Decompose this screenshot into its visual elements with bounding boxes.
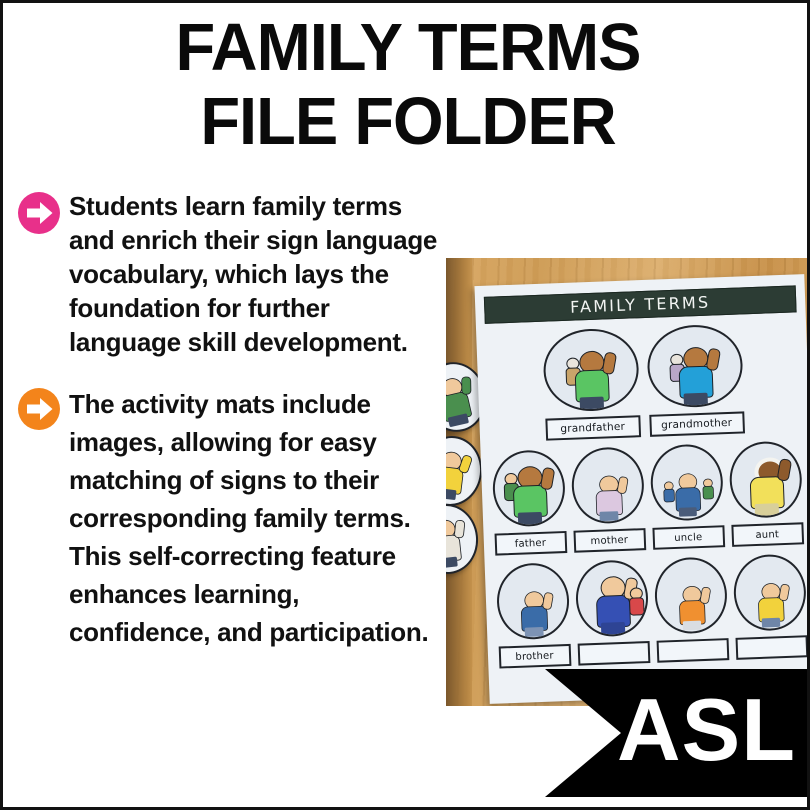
title-line-1: FAMILY TERMS <box>15 11 801 85</box>
page-title: FAMILY TERMS FILE FOLDER <box>3 11 810 159</box>
term-label: grandfather <box>560 421 625 435</box>
child-figure <box>584 571 640 635</box>
picture-oval <box>574 559 649 638</box>
asl-banner-label: ASL <box>617 686 796 774</box>
mini-figure <box>627 587 643 616</box>
worksheet-cell: aunt <box>728 440 804 547</box>
picture-oval <box>495 562 570 641</box>
term-label-box: mother <box>573 528 646 553</box>
worksheet-cell: grandfather <box>542 327 641 440</box>
picture-oval <box>728 440 803 519</box>
child-figure <box>737 453 793 517</box>
term-label-box: grandmother <box>649 411 745 436</box>
child-figure <box>500 461 556 525</box>
worksheet-row: father mother <box>490 440 806 555</box>
term-label: grandmother <box>661 417 733 432</box>
child-figure <box>446 446 474 502</box>
picture-oval <box>491 449 566 528</box>
term-label: mother <box>590 534 628 546</box>
mini-figure <box>701 478 713 499</box>
feature-bullet-list: Students learn family terms and enrich t… <box>17 189 447 677</box>
arrow-right-circle-icon <box>17 191 61 235</box>
worksheet-title: FAMILY TERMS <box>570 293 711 317</box>
list-item-label: The activity mats include images, allowi… <box>17 385 447 651</box>
child-figure <box>586 472 630 522</box>
child-figure <box>511 588 555 638</box>
family-group-figure <box>666 470 708 517</box>
term-label-box: uncle <box>652 525 725 550</box>
arrow-right-circle-icon <box>17 387 61 431</box>
term-label: father <box>515 537 547 549</box>
worksheet-cell: grandmother <box>646 323 745 436</box>
term-label-box: grandfather <box>545 415 641 440</box>
worksheet-cell: father <box>491 449 567 556</box>
worksheet-header: FAMILY TERMS <box>484 285 797 323</box>
list-item: The activity mats include images, allowi… <box>17 385 447 651</box>
worksheet-cell: mother <box>570 446 646 553</box>
list-item-label: Students learn family terms and enrich t… <box>17 189 447 359</box>
promo-graphic: FAMILY TERMS FILE FOLDER Students learn … <box>0 0 810 810</box>
child-figure <box>446 371 481 430</box>
child-figure <box>563 346 619 410</box>
picture-oval <box>570 446 645 525</box>
picture-oval <box>649 443 724 522</box>
worksheet-row: grandfather <box>485 321 801 442</box>
worksheet-cell: uncle <box>649 443 725 550</box>
term-label: uncle <box>674 532 702 544</box>
asl-banner: ASL <box>503 639 810 804</box>
child-figure <box>669 582 712 631</box>
picture-oval <box>646 323 744 408</box>
list-item: Students learn family terms and enrich t… <box>17 189 447 359</box>
term-label: aunt <box>755 529 779 541</box>
child-figure <box>446 515 470 570</box>
child-figure <box>667 342 723 406</box>
picture-oval <box>542 327 640 412</box>
child-figure <box>748 579 791 628</box>
picture-oval <box>732 553 807 632</box>
term-label-box: father <box>494 531 567 556</box>
term-label-box: aunt <box>731 522 804 547</box>
mini-figure <box>662 481 674 502</box>
title-line-2: FILE FOLDER <box>15 85 801 159</box>
picture-oval <box>653 556 728 635</box>
